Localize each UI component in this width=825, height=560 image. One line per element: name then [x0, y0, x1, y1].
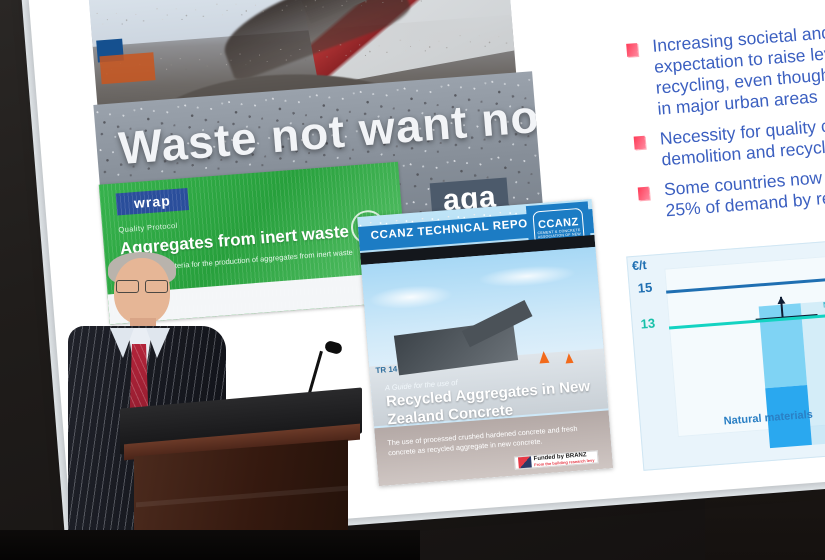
bullet-text: Increasing societal and political expect… — [652, 17, 825, 118]
bullet-list: Increasing societal and political expect… — [624, 14, 825, 233]
excavator-body — [99, 52, 155, 84]
traffic-cone-icon — [565, 353, 574, 364]
branz-logo-icon — [518, 456, 532, 468]
ccanz-report-cover: CCANZ TECHNICAL REPORT CCANZ CEMENT & CO… — [357, 199, 613, 486]
stage-floor — [0, 530, 420, 560]
chart-plot-area: 0 to 5 3 4 to 8 Natural materials Recycl… — [664, 248, 825, 437]
wrap-kicker: Quality Protocol — [118, 221, 178, 235]
bullet-item: Increasing societal and political expect… — [624, 14, 825, 122]
wrap-logo: wrap — [116, 188, 190, 215]
chart-y-tick-15: 15 — [637, 280, 653, 296]
ccanz-logo-text: CCANZ — [527, 215, 590, 232]
bullet-square-icon — [634, 136, 646, 150]
bullet-square-icon — [626, 43, 638, 57]
chart-y-tick-13: 13 — [640, 316, 656, 332]
ccanz-report-number: TR 14 — [375, 364, 397, 375]
bullet-text: Necessity for quality control in demolit… — [659, 111, 825, 170]
traffic-cone-icon — [539, 351, 550, 364]
bullet-square-icon — [638, 187, 650, 201]
conference-photo: where Economic Waste not want not aqa — [0, 0, 825, 560]
price-comparison-chart: €/t 15 13 Paris North East 0 to 5 — [626, 232, 825, 471]
bullet-text: Some countries now supply up to 25% of d… — [663, 160, 825, 221]
chart-y-unit-label: €/t — [631, 258, 647, 273]
glasses-icon — [116, 280, 168, 291]
